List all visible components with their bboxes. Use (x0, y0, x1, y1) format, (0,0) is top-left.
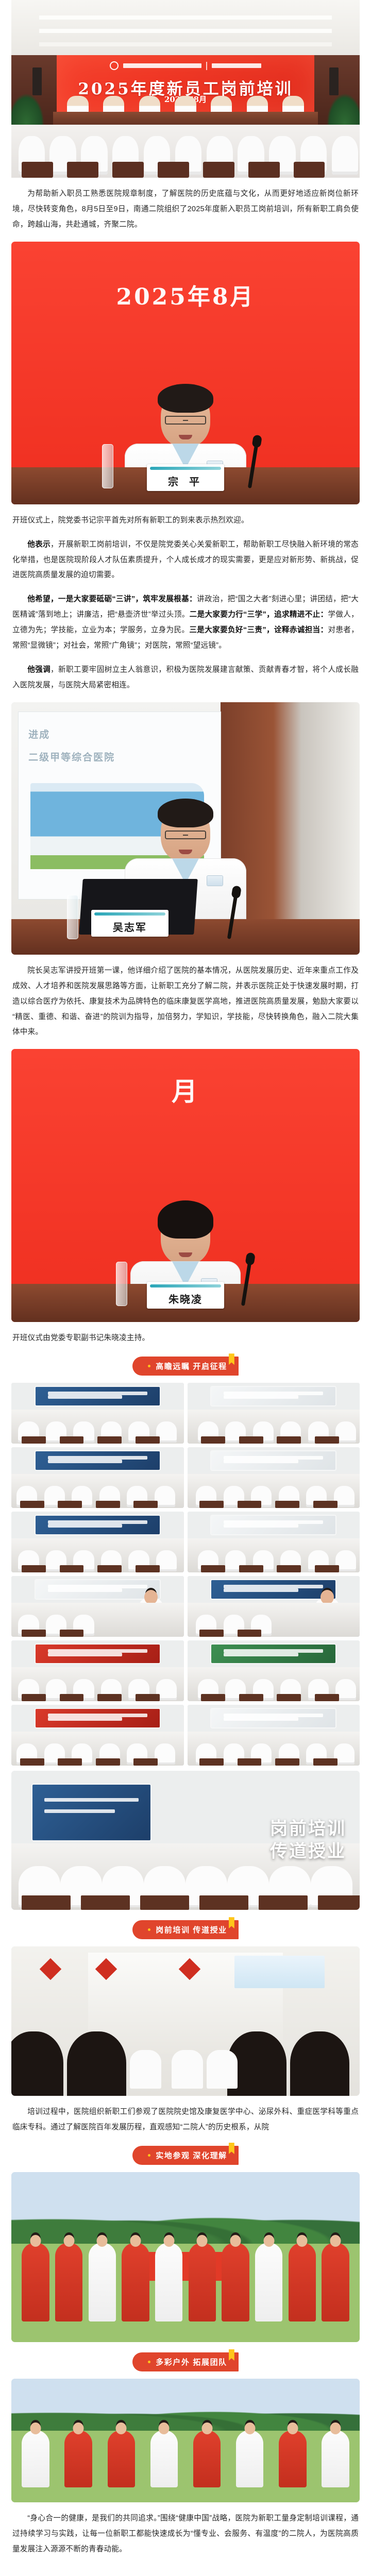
department-sign (234, 1956, 325, 1989)
water-bottle (116, 1262, 127, 1306)
president-head (161, 804, 210, 861)
glasses-icon (165, 416, 206, 425)
photo-department-tour (11, 1946, 360, 2096)
section-badge-wrap-4: 多彩户外 拓展团队 (0, 2352, 371, 2371)
section-badge-wrap-1: 高瞻远瞩 开启征程 (0, 1357, 371, 1376)
section-badge-wrap-2: 岗前培训 传道授业 (0, 1920, 371, 1939)
training-photo (188, 1705, 360, 1766)
badge-ribbon-icon (229, 2143, 234, 2154)
paragraph-first-lesson: 院长吴志军讲授开班第一课，他详细介绍了医院的基本情况，从医院发展历史、近年来重点… (12, 963, 359, 1041)
art-overlay-line2: 传道授业 (270, 1840, 346, 1863)
nameplate-zhuxiaoling: 朱晓凌 (147, 1282, 224, 1309)
nameplate-text: 吴志军 (113, 919, 147, 934)
badge-dot-icon (148, 1365, 150, 1367)
speaker-right-icon (329, 67, 339, 95)
nameplate-stripe (94, 912, 165, 916)
training-photo (11, 1512, 184, 1572)
art-overlay-title: 岗前培训 传道授业 (270, 1818, 346, 1863)
hope-item-1-head: ，一是大家要砥砺“三讲”，筑牢发展根基： (50, 595, 197, 603)
paragraph-he-stressed: 他强调，新职工要牢固树立主人翁意识，积极为医院发展建言献策、贡献青春才智，将个人… (12, 663, 359, 693)
nameplate-wuzhijun: 吴志军 (91, 910, 168, 937)
photo-outdoor-team (11, 2172, 360, 2342)
logo-divider (206, 62, 207, 70)
section-badge-1-label: 高瞻远瞩 开启征程 (156, 1361, 227, 1371)
ceiling (11, 0, 360, 59)
backdrop-month-text: 月 (11, 1071, 360, 1108)
nameplate-stripe (150, 467, 221, 470)
section-badge-wrap-3: 实地参观 深化理解 (0, 2146, 371, 2165)
badge-dot-icon (148, 1928, 150, 1931)
training-photo (11, 1447, 184, 1508)
photo-secretary-zongping: 2025年8月 宗 平 (11, 242, 360, 504)
lawn-scene (11, 2172, 360, 2342)
photo-opening-ceremony: 2025年度新员工岗前培训 2025年8月 (11, 0, 360, 178)
badge-ribbon-icon (229, 1917, 234, 1928)
conference-hall-scene: 2025年度新员工岗前培训 2025年8月 (11, 0, 360, 178)
section-badge-3-label: 实地参观 深化理解 (156, 2150, 227, 2161)
hair (158, 384, 213, 413)
article-page: 2025年度新员工岗前培训 2025年8月 为帮助新入职员工熟 (0, 0, 371, 2576)
photo-training-overview: 岗前培训 传道授业 (11, 1771, 360, 1910)
hair (158, 799, 213, 827)
badge-ribbon-icon (229, 2349, 234, 2361)
art-overlay-line1: 岗前培训 (270, 1818, 346, 1841)
corridor-scene (11, 1946, 360, 2096)
logo-primary-text (123, 63, 201, 68)
photo-president-wuzhijun: 进成 二级甲等综合医院 (11, 702, 360, 955)
training-photo (188, 1640, 360, 1701)
photo-closing-outdoor (11, 2379, 360, 2502)
team-row-closing (22, 2421, 349, 2488)
staff-id-badge (207, 876, 223, 886)
paragraph-intro: 为帮助新入职员工熟悉医院规章制度，了解医院的历史底蕴与文化，从而更好地适应新岗位… (12, 187, 359, 233)
photo-deputy-zhuxiaoling: 月 朱晓凌 (11, 1049, 360, 1322)
red-backdrop-scene-2: 月 朱晓凌 (11, 1049, 360, 1322)
logo-secondary-text (212, 63, 261, 68)
paragraph-he-hopes: 他希望，一是大家要砥砺“三讲”，筑牢发展根基：讲政治，把“国之大者”刻进心里；讲… (12, 592, 359, 654)
hope-item-3-head: 三是大家要负好“三责”，诠释赤诚担当： (189, 626, 328, 634)
speaker-left-icon (32, 67, 42, 95)
section-badge-4: 多彩户外 拓展团队 (132, 2352, 239, 2371)
hair (158, 1200, 213, 1239)
mouth (179, 850, 192, 854)
section-badge-4-label: 多彩户外 拓展团队 (156, 2357, 227, 2367)
hospital-logo-lockup (110, 61, 261, 70)
slide-title-line1: 进成 (28, 727, 50, 741)
section-badge-1: 高瞻远瞩 开启征程 (132, 1357, 239, 1376)
training-photo (188, 1576, 360, 1637)
paragraph-tour: 培训过程中，医院组织新职工们参观了医院院史馆及康复医学中心、泌尿外科、重症医学科… (12, 2105, 359, 2136)
lead-he-hopes: 他希望 (27, 595, 50, 603)
paragraph-he-said: 他表示，开展新职工岗前培训，不仅是院党委关心关爱新职工，帮助新职工尽快融入新环境… (12, 537, 359, 584)
water-bottle (102, 444, 113, 488)
nameplate-zongping: 宗 平 (147, 464, 224, 491)
slide-title-line2: 二级甲等综合医院 (28, 750, 115, 764)
speaker-head (161, 389, 210, 447)
paragraph-welcome: 开班仪式上，院党委书记宗平首先对所有新职工的到来表示热烈欢迎。 (12, 513, 359, 529)
nameplate-text: 宗 平 (168, 473, 203, 488)
nameplate-stripe (150, 1284, 221, 1287)
red-backdrop-scene: 2025年8月 宗 平 (11, 242, 360, 504)
mouth (179, 1252, 192, 1257)
badge-ribbon-icon (229, 1353, 234, 1365)
lead-he-stressed: 他强调 (27, 666, 50, 674)
backdrop-date-text: 2025年8月 (11, 278, 360, 311)
section-badge-2: 岗前培训 传道授业 (132, 1920, 239, 1939)
hope-item-2-head: 二是大家要力行“三学”，追求精进不止： (190, 611, 328, 619)
badge-dot-icon (148, 2154, 150, 2157)
lead-he-said: 他表示 (27, 540, 50, 549)
lawn-scene-closing (11, 2379, 360, 2502)
training-photo (11, 1640, 184, 1701)
paragraph-hosted-by: 开班仪式由党委专职副书记朱晓凌主持。 (12, 1331, 359, 1346)
fu-decoration-icon (40, 1958, 61, 1980)
nameplate-text: 朱晓凌 (168, 1291, 203, 1306)
section-badge-2-label: 岗前培训 传道授业 (156, 1924, 227, 1935)
training-photo (11, 1705, 184, 1766)
hospital-seal-icon (110, 61, 119, 70)
mouth (179, 435, 192, 439)
training-photo (11, 1383, 184, 1444)
training-photo (188, 1447, 360, 1508)
training-photo (188, 1383, 360, 1444)
meeting-room-scene: 进成 二级甲等综合医院 (11, 702, 360, 955)
water-bottle (67, 895, 78, 939)
deputy-head (161, 1207, 210, 1264)
section-badge-3: 实地参观 深化理解 (132, 2146, 239, 2165)
paragraph-he-said-body: ，开展新职工岗前培训，不仅是院党委关心关爱新职工，帮助新职工尽快融入新环境的常态… (12, 540, 359, 580)
team-row (22, 2230, 349, 2321)
training-photo (188, 1512, 360, 1572)
paragraph-he-stressed-body: ，新职工要牢固树立主人翁意识，积极为医院发展建言献策、贡献青春才智，将个人成长融… (12, 666, 359, 689)
training-photo-grid-1 (11, 1383, 360, 1766)
audience-area (11, 125, 360, 178)
badge-dot-icon (148, 2361, 150, 2363)
glasses-icon (165, 831, 206, 839)
paragraph-closing: “身心合一的健康，是我们的共同追求。”围绕“健康中国”战略，医院为新职工量身定制… (12, 2511, 359, 2557)
visiting-group (11, 2024, 360, 2096)
training-photo (11, 1576, 184, 1637)
